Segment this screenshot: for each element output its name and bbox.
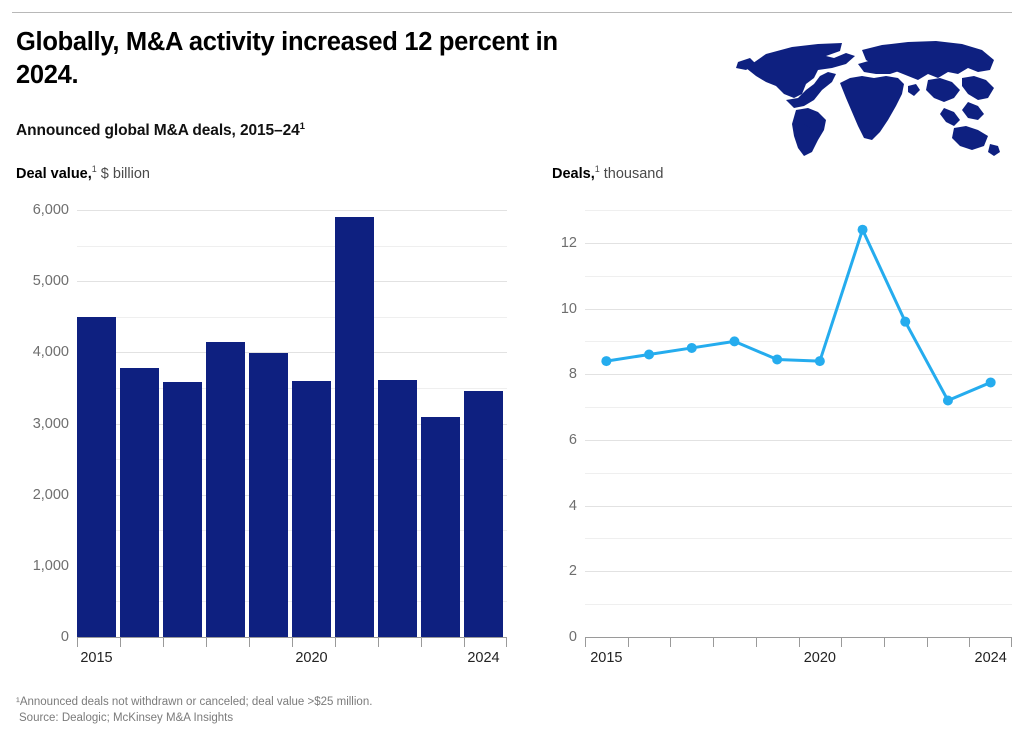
deal-value-x-axis-ticks: 201520202024 <box>77 638 507 647</box>
x-axis-tick <box>464 638 465 647</box>
y-axis-tick-label: 3,000 <box>33 416 69 432</box>
exhibit-subtitle-text: Announced global M&A deals, 2015–24 <box>16 122 300 139</box>
x-axis-tick <box>421 638 422 647</box>
gridline-minor <box>77 317 507 318</box>
bar <box>206 342 245 637</box>
data-point-marker <box>815 356 825 366</box>
data-point-marker <box>943 396 953 406</box>
x-axis-tick <box>969 638 970 647</box>
y-axis-tick-label: 4 <box>569 498 577 514</box>
bar <box>249 353 288 637</box>
footnote-text: ¹Announced deals not withdrawn or cancel… <box>16 694 372 711</box>
x-axis-tick <box>120 638 121 647</box>
line-path <box>606 230 990 401</box>
bar <box>163 382 202 637</box>
world-map-icon <box>722 28 1012 160</box>
data-point-marker <box>729 336 739 346</box>
x-axis-label: 2015 <box>80 650 112 666</box>
exhibit-subtitle: Announced global M&A deals, 2015–241 <box>16 122 305 140</box>
data-point-marker <box>687 343 697 353</box>
bar <box>77 317 116 637</box>
deal-value-axis-title: Deal value,1 $ billion <box>16 166 150 182</box>
gridline <box>77 352 507 353</box>
x-axis-tick <box>884 638 885 647</box>
x-axis-tick <box>335 638 336 647</box>
x-axis-tick <box>506 638 507 647</box>
deals-count-series <box>585 210 1012 637</box>
bar <box>335 217 374 637</box>
deals-count-plot-area <box>585 210 1012 637</box>
deals-count-x-axis-ticks: 201520202024 <box>585 638 1012 647</box>
deals-count-y-axis-labels: 024681012 <box>532 210 577 637</box>
deal-value-axis-title-bold: Deal value, <box>16 166 92 182</box>
x-axis-label: 2024 <box>467 650 499 666</box>
world-map-graphic <box>722 28 1012 160</box>
y-axis-tick-label: 0 <box>569 629 577 645</box>
x-axis-tick <box>292 638 293 647</box>
deals-count-axis-title: Deals,1 thousand <box>552 166 663 182</box>
x-axis-label: 2024 <box>975 650 1007 666</box>
gridline <box>77 281 507 282</box>
data-point-marker <box>900 317 910 327</box>
top-divider <box>12 12 1012 13</box>
deal-value-axis-title-rest: $ billion <box>97 166 150 182</box>
data-point-marker <box>644 350 654 360</box>
exhibit-subtitle-footnote-marker: 1 <box>300 121 305 132</box>
x-axis-tick <box>378 638 379 647</box>
gridline-minor <box>77 246 507 247</box>
y-axis-tick-label: 4,000 <box>33 344 69 360</box>
x-axis-tick <box>206 638 207 647</box>
gridline <box>77 210 507 211</box>
x-axis-tick <box>713 638 714 647</box>
data-point-marker <box>858 225 868 235</box>
y-axis-tick-label: 6 <box>569 432 577 448</box>
x-axis-tick <box>1011 638 1012 647</box>
x-axis-tick <box>249 638 250 647</box>
data-point-marker <box>986 377 996 387</box>
x-axis-tick <box>77 638 78 647</box>
bar <box>464 391 503 637</box>
deals-count-axis-title-rest: thousand <box>600 166 664 182</box>
bar <box>120 368 159 637</box>
deals-count-axis-title-bold: Deals, <box>552 166 595 182</box>
bar <box>421 417 460 637</box>
x-axis-tick <box>628 638 629 647</box>
deal-value-plot-area <box>77 210 507 637</box>
y-axis-tick-label: 6,000 <box>33 202 69 218</box>
y-axis-tick-label: 2 <box>569 563 577 579</box>
x-axis-tick <box>841 638 842 647</box>
x-axis-tick <box>927 638 928 647</box>
data-point-marker <box>772 354 782 364</box>
x-axis-tick <box>799 638 800 647</box>
x-axis-tick <box>163 638 164 647</box>
bar <box>292 381 331 637</box>
deal-value-y-axis-labels: 01,0002,0003,0004,0005,0006,000 <box>14 210 69 637</box>
y-axis-tick-label: 2,000 <box>33 487 69 503</box>
source-text: Source: Dealogic; McKinsey M&A Insights <box>19 710 233 727</box>
y-axis-tick-label: 10 <box>561 301 577 317</box>
x-axis-tick <box>670 638 671 647</box>
x-axis-label: 2015 <box>590 650 622 666</box>
x-axis-label: 2020 <box>804 650 836 666</box>
page-title: Globally, M&A activity increased 12 perc… <box>16 26 576 91</box>
x-axis-label: 2020 <box>295 650 327 666</box>
x-axis-tick <box>756 638 757 647</box>
y-axis-tick-label: 8 <box>569 366 577 382</box>
y-axis-tick-label: 12 <box>561 235 577 251</box>
y-axis-tick-label: 0 <box>61 629 69 645</box>
y-axis-tick-label: 1,000 <box>33 558 69 574</box>
y-axis-tick-label: 5,000 <box>33 273 69 289</box>
bar <box>378 380 417 637</box>
data-point-marker <box>601 356 611 366</box>
x-axis-tick <box>585 638 586 647</box>
